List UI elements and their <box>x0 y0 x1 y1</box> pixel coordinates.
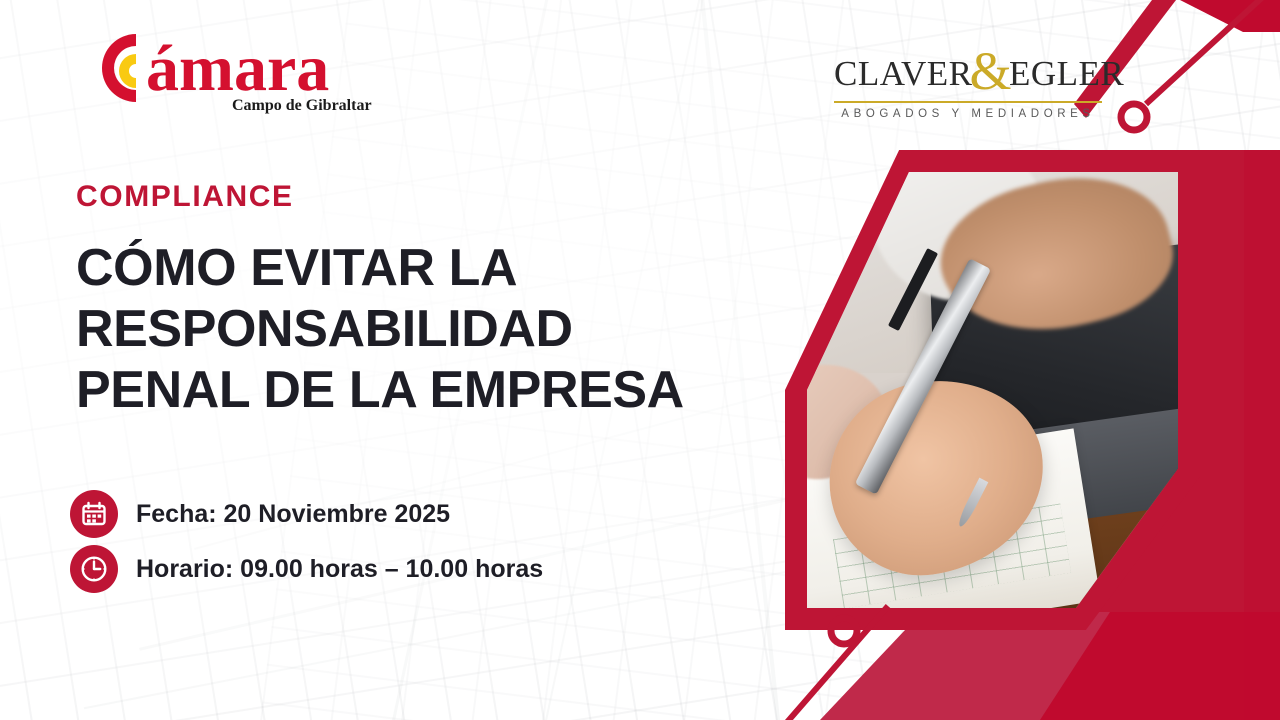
event-banner: ámara Campo de Gibraltar CLAVER&EGLER AB… <box>0 0 1280 720</box>
claver-egler-wordmark: CLAVER&EGLER <box>834 44 1102 98</box>
headline-line-1: CÓMO EVITAR LA <box>76 238 786 299</box>
camara-logo-mark: ámara Campo de Gibraltar <box>74 28 404 114</box>
claver-ampersand: & <box>970 41 1013 101</box>
claver-name-right: EGLER <box>1009 54 1124 93</box>
camara-subtitle: Campo de Gibraltar <box>232 97 372 114</box>
detail-text-date: Fecha: 20 Noviembre 2025 <box>136 500 450 529</box>
hexagon-photo-frame <box>785 150 1200 630</box>
detail-text-time: Horario: 09.00 horas – 10.00 horas <box>136 555 543 584</box>
camara-wordmark: ámara <box>146 32 329 105</box>
claver-tagline: ABOGADOS Y MEDIADORES <box>834 108 1102 120</box>
calendar-icon <box>70 490 118 538</box>
claver-egler-logo: CLAVER&EGLER ABOGADOS Y MEDIADORES <box>834 44 1102 120</box>
detail-row-time: Horario: 09.00 horas – 10.00 horas <box>70 545 543 593</box>
detail-row-date: Fecha: 20 Noviembre 2025 <box>70 490 450 538</box>
claver-divider <box>834 101 1102 103</box>
page-title: CÓMO EVITAR LA RESPONSABILIDAD PENAL DE … <box>76 238 786 420</box>
headline-line-3: PENAL DE LA EMPRESA <box>76 360 786 421</box>
kicker-compliance: COMPLIANCE <box>76 180 294 214</box>
claver-name-left: CLAVER <box>834 54 973 93</box>
clock-icon <box>70 545 118 593</box>
camara-logo: ámara Campo de Gibraltar <box>74 28 404 114</box>
headline-line-2: RESPONSABILIDAD <box>76 299 786 360</box>
